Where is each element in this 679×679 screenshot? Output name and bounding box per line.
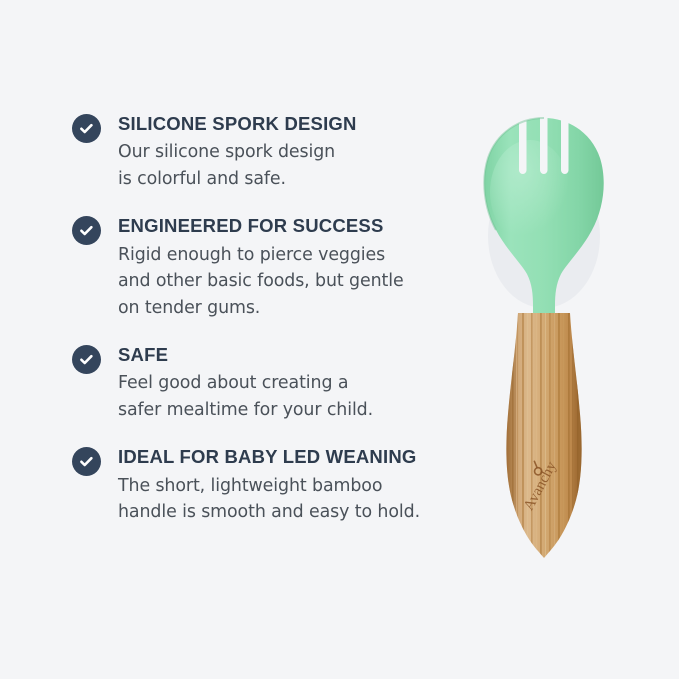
feature-body-line: and other basic foods, but gentle bbox=[118, 268, 462, 294]
product-infographic: SILICONE SPORK DESIGN Our silicone spork… bbox=[0, 0, 679, 679]
feature-body-line: on tender gums. bbox=[118, 295, 462, 321]
feature-body: Feel good about creating a safer mealtim… bbox=[118, 370, 462, 423]
feature-body-line: Feel good about creating a bbox=[118, 370, 462, 396]
feature-item: IDEAL FOR BABY LED WEANING The short, li… bbox=[72, 445, 462, 525]
feature-body-line: The short, lightweight bamboo bbox=[118, 473, 462, 499]
check-circle-icon bbox=[72, 447, 101, 476]
spork-bamboo-handle: Avanchy bbox=[506, 306, 584, 566]
feature-body-line: handle is smooth and easy to hold. bbox=[118, 499, 462, 525]
feature-body-line: safer mealtime for your child. bbox=[118, 397, 462, 423]
feature-body-line: is colorful and safe. bbox=[118, 166, 462, 192]
feature-list: SILICONE SPORK DESIGN Our silicone spork… bbox=[72, 112, 462, 526]
check-circle-icon bbox=[72, 114, 101, 143]
feature-title: IDEAL FOR BABY LED WEANING bbox=[118, 445, 462, 469]
feature-body: Rigid enough to pierce veggies and other… bbox=[118, 242, 462, 321]
feature-title: ENGINEERED FOR SUCCESS bbox=[118, 214, 462, 238]
feature-item: SAFE Feel good about creating a safer me… bbox=[72, 343, 462, 423]
feature-item: ENGINEERED FOR SUCCESS Rigid enough to p… bbox=[72, 214, 462, 321]
feature-body-line: Rigid enough to pierce veggies bbox=[118, 242, 462, 268]
feature-title: SAFE bbox=[118, 343, 462, 367]
feature-body: Our silicone spork design is colorful an… bbox=[118, 139, 462, 192]
feature-body: The short, lightweight bamboo handle is … bbox=[118, 473, 462, 526]
check-circle-icon bbox=[72, 345, 101, 374]
feature-item: SILICONE SPORK DESIGN Our silicone spork… bbox=[72, 112, 462, 192]
feature-title: SILICONE SPORK DESIGN bbox=[118, 112, 462, 136]
spork-silicone-head bbox=[484, 112, 603, 318]
product-image-spork: Avanchy bbox=[462, 96, 662, 596]
feature-body-line: Our silicone spork design bbox=[118, 139, 462, 165]
check-circle-icon bbox=[72, 216, 101, 245]
